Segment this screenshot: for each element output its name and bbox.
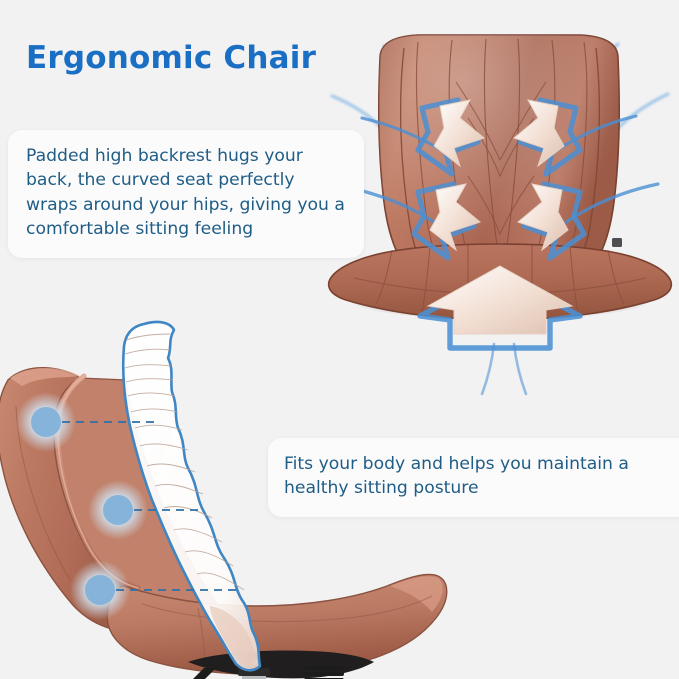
spine-outline xyxy=(123,322,260,670)
contact-halo xyxy=(70,560,130,620)
backrest-piping-highlight xyxy=(58,376,138,588)
backrest-quilting xyxy=(416,39,586,268)
backrest-diamond-seams xyxy=(456,82,546,234)
spine-illustration xyxy=(123,322,260,670)
pressure-arrow-bottom-up xyxy=(420,266,580,348)
front-chair-shadow xyxy=(348,276,652,320)
contact-dot xyxy=(31,407,61,437)
contact-halo xyxy=(88,480,148,540)
page-title: Ergonomic Chair xyxy=(26,40,316,76)
contact-point-3 xyxy=(70,560,130,620)
side-backrest-seams xyxy=(16,406,188,622)
seat-lip-highlight xyxy=(390,576,443,612)
contact-point-1 xyxy=(16,392,76,452)
side-seat-seams xyxy=(142,596,432,672)
pressure-arrow-mid-left xyxy=(414,184,480,258)
base-leg-left xyxy=(188,668,216,679)
callout-posture: Fits your body and helps you maintain a … xyxy=(268,438,679,517)
sacrum-shading xyxy=(210,606,255,668)
contact-dot xyxy=(103,495,133,525)
backrest-bolster-seams xyxy=(401,48,600,268)
side-backrest-front-face xyxy=(54,378,228,632)
gas-cylinder-collar xyxy=(238,668,270,676)
infographic-page: Ergonomic Chair Padded high backrest hug… xyxy=(0,0,679,679)
seat-quilting xyxy=(354,245,646,318)
pressure-arrow-top-left xyxy=(418,100,484,174)
chair-backrest xyxy=(379,35,619,268)
vertebra-lines xyxy=(125,334,244,590)
backrest-piping xyxy=(58,376,138,588)
pressure-arrow-mid-right xyxy=(518,184,584,258)
brand-tag xyxy=(612,238,622,247)
backrest-top-highlight xyxy=(10,368,80,386)
pressure-arrow-top-right xyxy=(514,100,580,174)
callout-posture-text: Fits your body and helps you maintain a … xyxy=(284,452,676,501)
callout-backrest: Padded high backrest hugs your back, the… xyxy=(8,130,364,258)
chair-base-plate xyxy=(188,650,374,678)
front-chair-illustration xyxy=(318,26,679,398)
side-backrest xyxy=(0,368,134,632)
airflow-lines-front xyxy=(342,116,658,394)
contact-point-2 xyxy=(88,480,148,540)
base-screw xyxy=(251,659,257,665)
chair-seat xyxy=(329,244,672,320)
airflow-lines-back xyxy=(332,44,668,150)
callout-backrest-text: Padded high backrest hugs your back, the… xyxy=(26,144,348,242)
gas-cylinder xyxy=(242,672,266,679)
cylinder-bellows xyxy=(304,666,344,679)
side-seat xyxy=(107,574,446,674)
contact-dot xyxy=(85,575,115,605)
contact-halo xyxy=(16,392,76,452)
backrest-highlight xyxy=(379,35,619,268)
